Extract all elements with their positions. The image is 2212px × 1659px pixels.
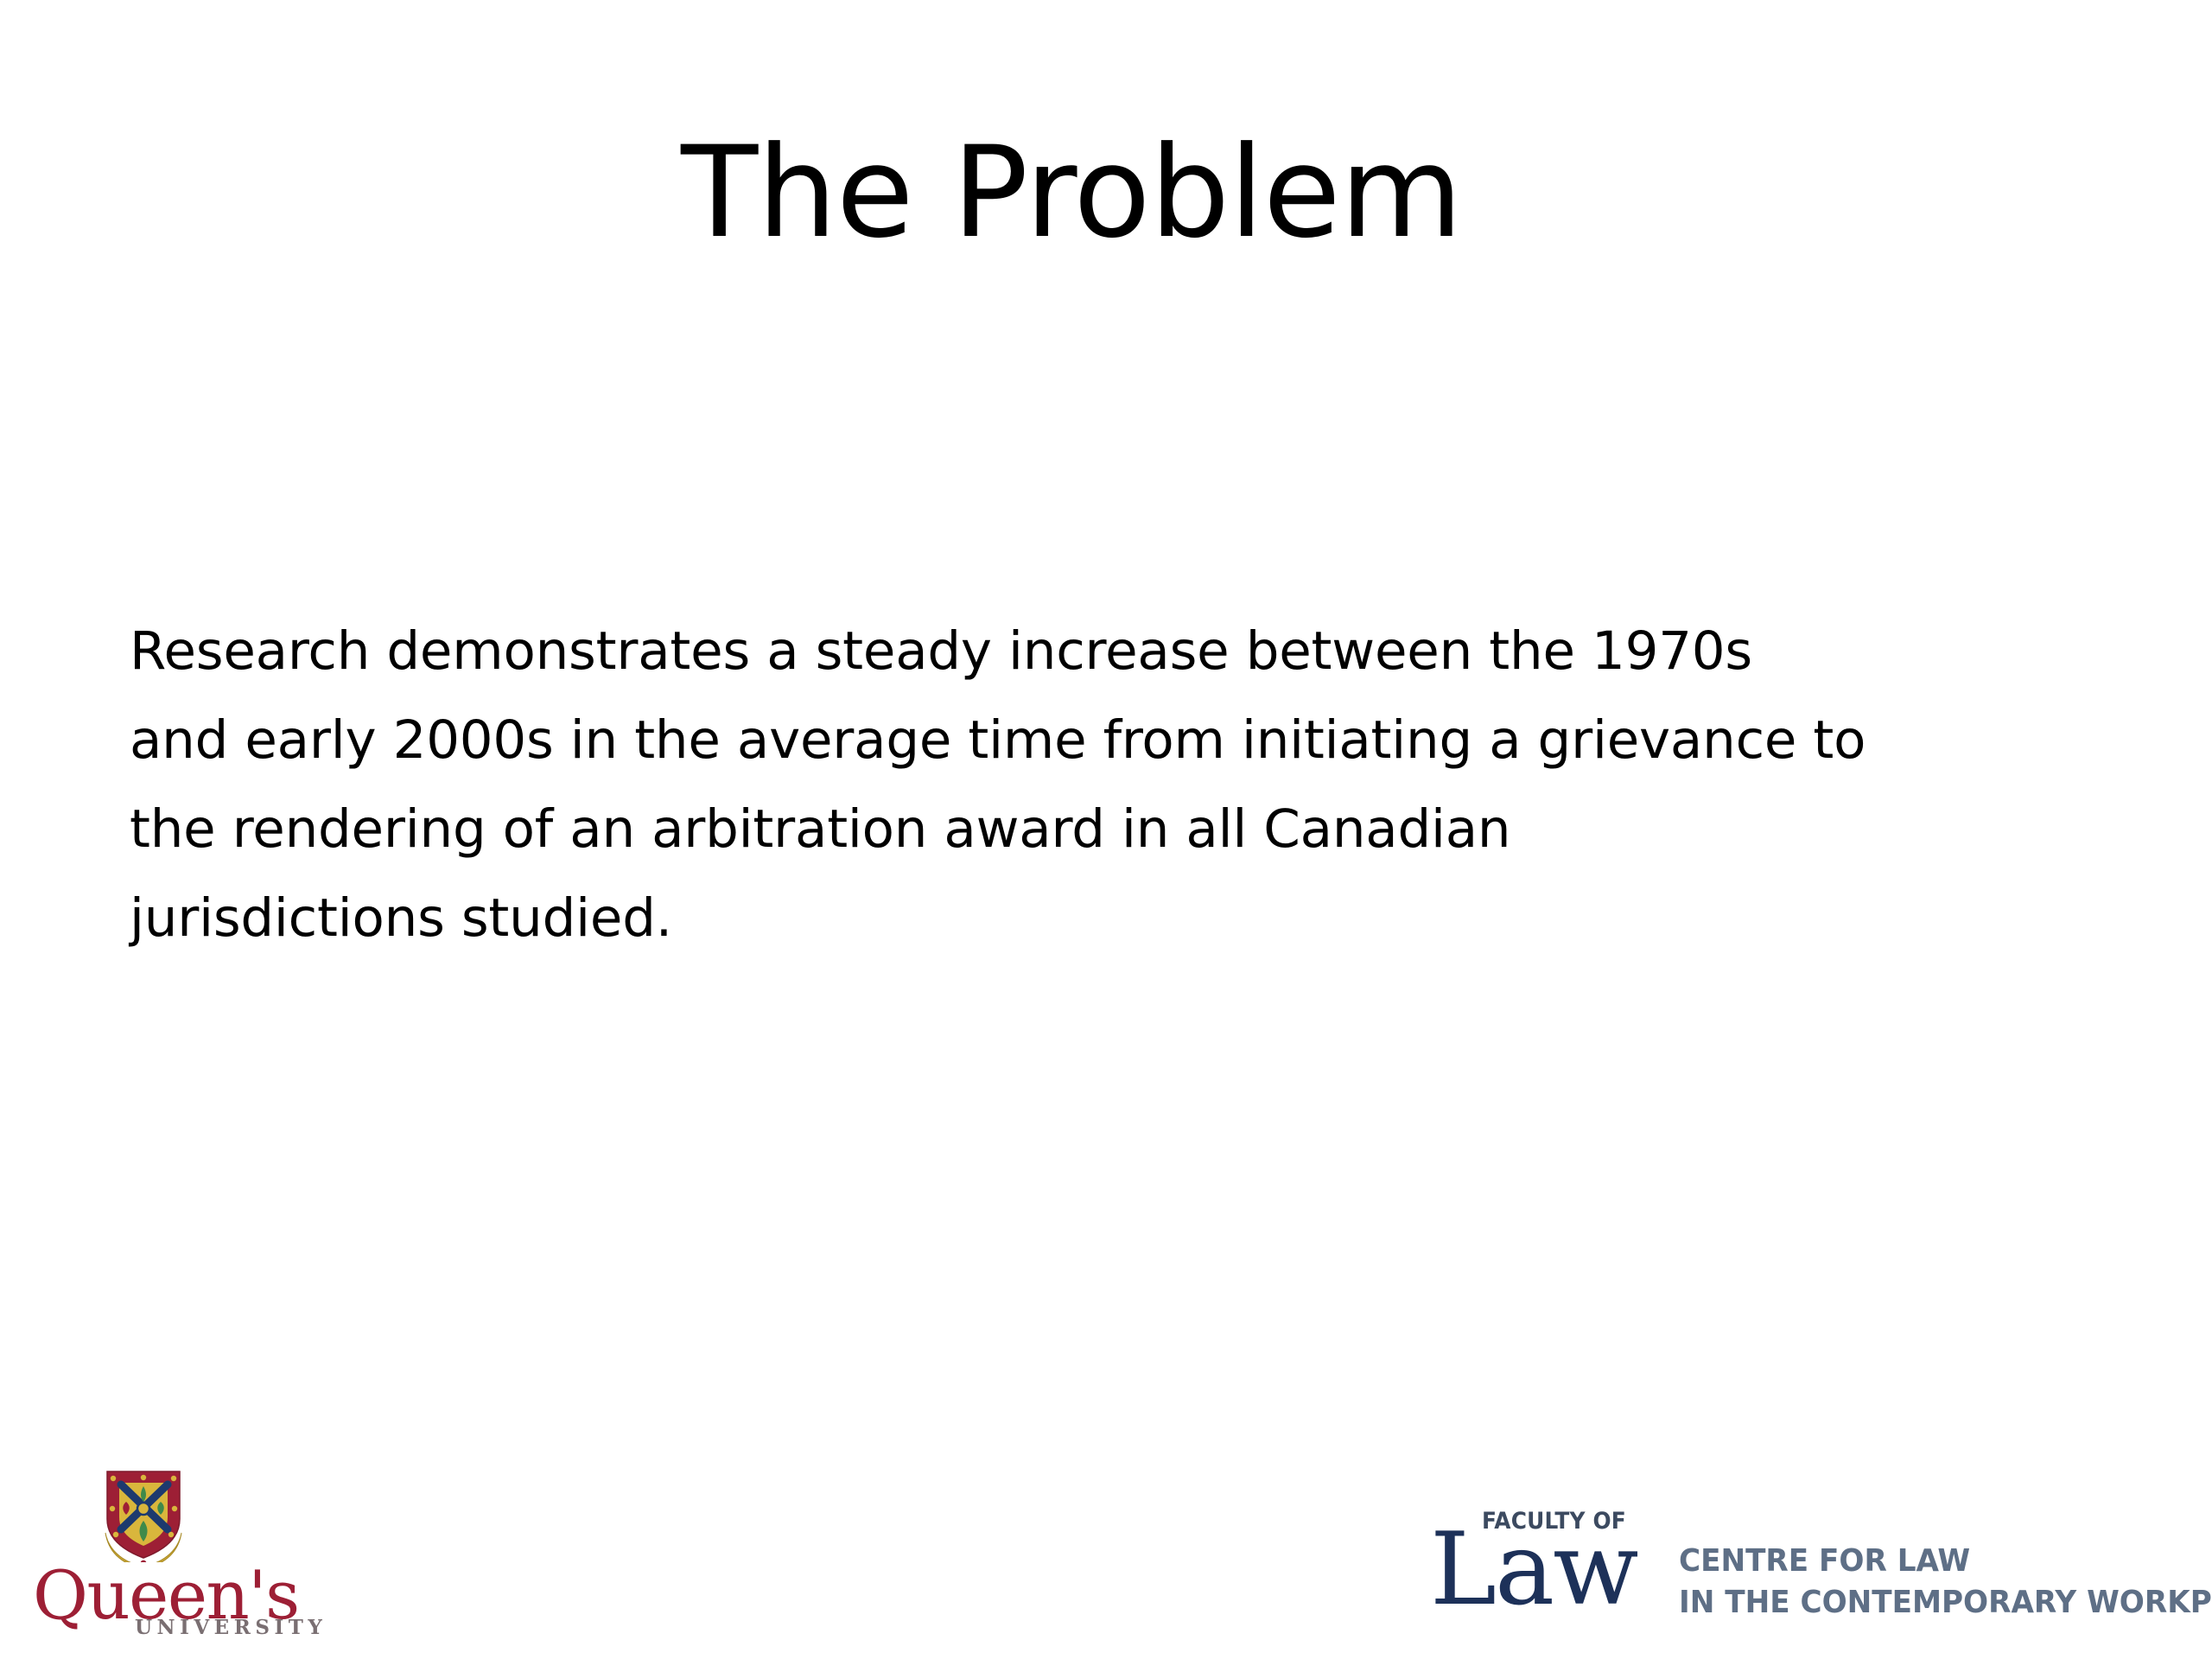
slide-title-block: The Problem xyxy=(0,130,2212,256)
centre-line-1: CENTRE FOR LAW xyxy=(1679,1541,2139,1582)
queens-crest-icon xyxy=(104,1469,183,1562)
slide-body-text: Research demonstrates a steady increase … xyxy=(130,607,2143,963)
queens-wordmark: Queen's UNIVERSITY xyxy=(33,1562,275,1630)
centre-line-2: IN THE CONTEMPORARY WORKPLACE xyxy=(1679,1582,2139,1624)
body-line-1: Research demonstrates a steady increase … xyxy=(130,607,2143,696)
queens-university-text: UNIVERSITY xyxy=(135,1616,327,1639)
body-line-4: jurisdictions studied. xyxy=(130,874,2143,963)
body-line-2: and early 2000s in the average time from… xyxy=(130,696,2143,785)
law-label: Law xyxy=(1430,1520,1637,1620)
queens-university-logo: Queen's UNIVERSITY xyxy=(26,1469,276,1650)
body-line-3: the rendering of an arbitration award in… xyxy=(130,785,2143,874)
law-wordmark: FACULTY OF Law xyxy=(1430,1508,1689,1620)
faculty-of-law-logo: FACULTY OF Law CENTRE FOR LAW IN THE CON… xyxy=(1430,1508,2173,1629)
page-title: The Problem xyxy=(681,130,1462,256)
centre-for-law-text: CENTRE FOR LAW IN THE CONTEMPORARY WORKP… xyxy=(1679,1541,2163,1624)
presentation-slide: The Problem Research demonstrates a stea… xyxy=(0,0,2212,1659)
